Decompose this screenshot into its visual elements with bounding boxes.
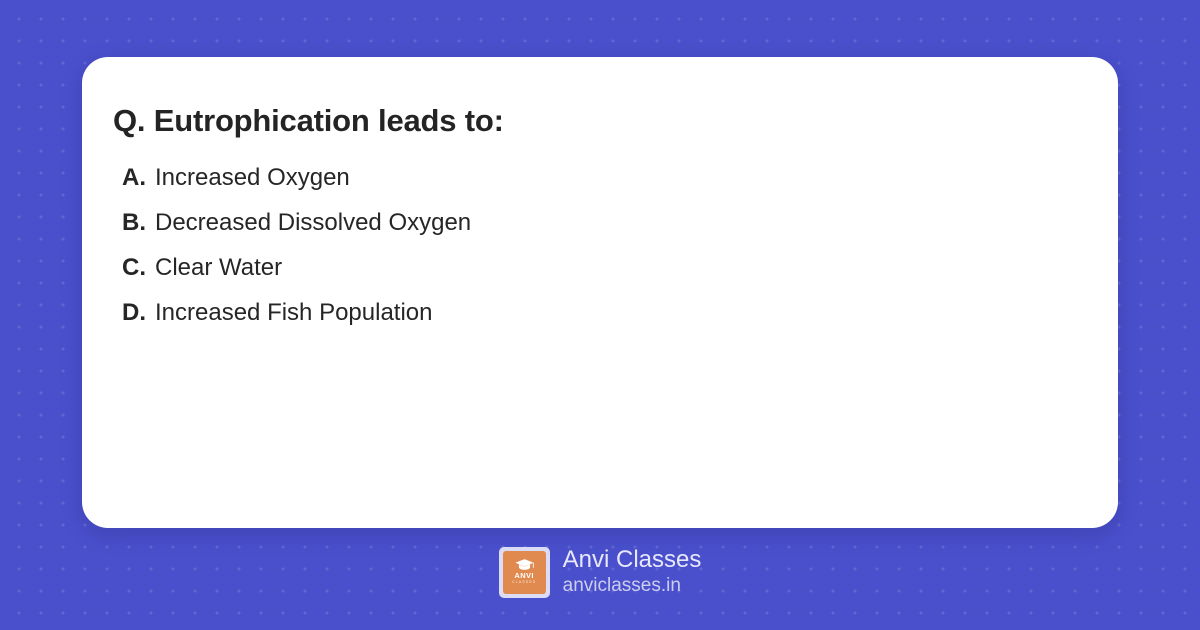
options-list: A. Increased Oxygen B. Decreased Dissolv… [113, 164, 1087, 344]
option-c[interactable]: C. Clear Water [113, 254, 1087, 299]
brand-url[interactable]: anviclasses.in [563, 574, 702, 598]
option-d-letter: D. [122, 299, 146, 327]
option-a-letter: A. [122, 164, 146, 192]
brand-footer: ANVI CLASSES Anvi Classes anviclasses.in [0, 546, 1200, 598]
option-c-letter: C. [122, 254, 146, 282]
option-b-text: Decreased Dissolved Oxygen [155, 209, 471, 237]
logo-sub-text: CLASSES [512, 581, 536, 585]
option-b-letter: B. [122, 209, 146, 237]
question-card: Q. Eutrophication leads to: A. Increased… [82, 57, 1118, 528]
option-a[interactable]: A. Increased Oxygen [113, 164, 1087, 209]
option-a-text: Increased Oxygen [155, 164, 350, 192]
brand-text-block: Anvi Classes anviclasses.in [563, 546, 702, 598]
brand-title: Anvi Classes [563, 546, 702, 574]
option-d[interactable]: D. Increased Fish Population [113, 299, 1087, 344]
logo-name-text: ANVI [514, 572, 534, 580]
graduation-cap-icon [515, 559, 534, 571]
option-b[interactable]: B. Decreased Dissolved Oxygen [113, 209, 1087, 254]
logo-tile: ANVI CLASSES [503, 551, 546, 594]
option-c-text: Clear Water [155, 254, 282, 282]
question-text: Q. Eutrophication leads to: [113, 102, 1087, 139]
option-d-text: Increased Fish Population [155, 299, 433, 327]
brand-logo: ANVI CLASSES [499, 547, 550, 598]
